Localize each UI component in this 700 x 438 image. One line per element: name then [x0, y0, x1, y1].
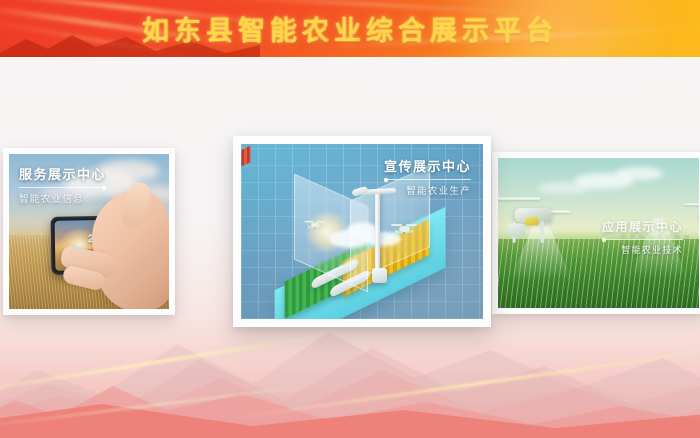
card-application-title: 应用展示中心	[602, 218, 683, 235]
drone-tank	[525, 217, 538, 226]
drone-leg	[307, 226, 314, 229]
card-application-caption: 应用展示中心 智能农业技术	[602, 218, 683, 256]
page-title: 如东县智能农业综合展示平台	[0, 0, 700, 57]
mountain-layer-5	[0, 392, 700, 438]
caption-divider	[602, 239, 683, 240]
drone-leg	[315, 226, 322, 229]
card-service-title: 服务展示中心	[19, 164, 106, 183]
card-promotion-image: 宣传展示中心 智能农业生产	[241, 144, 483, 319]
card-promotion-subtitle: 智能农业生产	[384, 183, 471, 197]
app-root: 如东县智能农业综合展示平台 26°	[0, 0, 700, 438]
drone-icon	[304, 220, 325, 229]
caption-divider	[19, 187, 106, 188]
drone-tank	[508, 223, 525, 237]
card-promotion-title: 宣传展示中心	[384, 156, 471, 175]
header-banner: 如东县智能农业综合展示平台	[0, 0, 700, 57]
card-promotion-caption: 宣传展示中心 智能农业生产	[384, 156, 471, 197]
cloud-icon	[615, 167, 663, 180]
card-service-image: 26°	[9, 154, 169, 309]
caption-divider	[384, 179, 471, 180]
control-box	[372, 268, 387, 283]
card-application[interactable]: 应用展示中心 智能农业技术	[492, 152, 700, 314]
cloud-icon	[538, 182, 590, 194]
card-service[interactable]: 26°	[3, 148, 175, 315]
card-application-image: 应用展示中心 智能农业技术	[498, 158, 699, 308]
card-service-subtitle: 智能农业信息	[19, 191, 106, 205]
card-application-subtitle: 智能农业技术	[602, 243, 683, 256]
card-promotion[interactable]: 宣传展示中心 智能农业生产	[233, 136, 491, 327]
drone-icon	[391, 223, 417, 234]
rotor	[498, 197, 541, 200]
rotor	[684, 203, 699, 205]
cloud-icon	[97, 160, 159, 182]
drone-leg	[698, 221, 699, 236]
card-service-caption: 服务展示中心 智能农业信息	[19, 164, 106, 205]
drone-leg	[541, 221, 544, 243]
lamp-post	[375, 191, 380, 269]
